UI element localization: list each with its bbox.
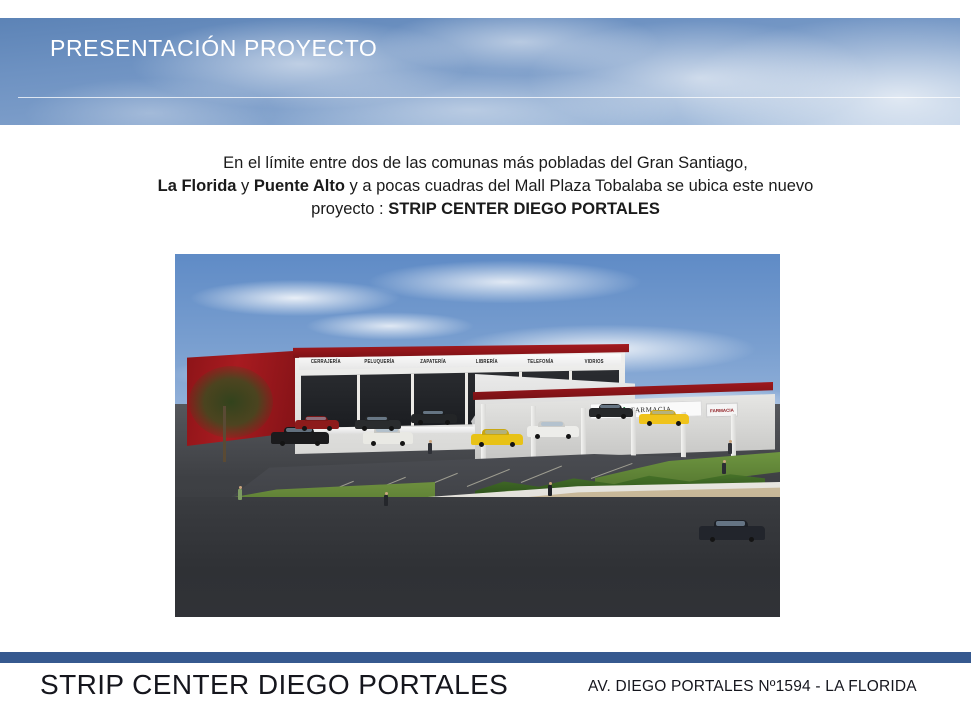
facade-column (631, 410, 636, 462)
footer-accent-bar (0, 652, 971, 663)
car-dark-suv (411, 414, 457, 423)
person-figure (237, 486, 243, 502)
intro-line-1-text: En el límite entre dos de las comunas má… (223, 154, 748, 172)
street-asphalt (175, 497, 780, 617)
car-yellow-convertible (639, 414, 689, 424)
comuna-la-florida: La Florida (158, 177, 237, 195)
car-dark-sedan (355, 420, 401, 429)
intro-line-3: proyecto : STRIP CENTER DIEGO PORTALES (0, 198, 971, 221)
person-figure (547, 482, 553, 498)
person-figure (727, 440, 733, 454)
car-red-sedan (295, 420, 339, 429)
page-title: PRESENTACIÓN PROYECTO (50, 35, 377, 62)
header-divider-line (18, 97, 960, 98)
intro-line-2-rest: y a pocas cuadras del Mall Plaza Tobalab… (345, 177, 813, 195)
facade-mullion (465, 370, 468, 428)
facade-column (581, 408, 586, 462)
car-street-sedan (699, 526, 765, 540)
project-render-image: CERRAJERÍA PELUQUERÍA ZAPATERÍA LIBRERÍA… (175, 254, 780, 617)
car-white-compact (363, 432, 413, 444)
car-white-suv (527, 426, 579, 437)
intro-line-2: La Florida y Puente Alto y a pocas cuadr… (0, 175, 971, 198)
facade-column (731, 414, 736, 462)
shop-sign-peluqueria: PELUQUERÍA (353, 359, 407, 364)
person-figure (721, 460, 727, 475)
tree-trunk (223, 406, 226, 462)
car-yellow-hatchback (471, 434, 523, 445)
car-dark-parked (589, 408, 633, 417)
footer-project-title: STRIP CENTER DIEGO PORTALES (40, 669, 508, 701)
shop-sign-vidrios: VIDRIOS (567, 359, 621, 364)
pharmacy-logo-label: FARMACIA (710, 407, 734, 413)
car-black-pickup (271, 432, 329, 444)
intro-conjunction: y (236, 177, 253, 195)
intro-line-1: En el límite entre dos de las comunas má… (0, 152, 971, 175)
shop-sign-telefonia: TELEFONÍA (514, 359, 568, 364)
parking-stall-line (521, 466, 562, 483)
person-figure (427, 440, 433, 454)
intro-paragraph: En el límite entre dos de las comunas má… (0, 152, 971, 221)
intro-line-3-prefix: proyecto : (311, 200, 388, 218)
comuna-puente-alto: Puente Alto (254, 177, 345, 195)
shop-sign-zapateria: ZAPATERÍA (406, 359, 460, 364)
shop-sign-libreria: LIBRERÍA (460, 359, 514, 364)
project-name: STRIP CENTER DIEGO PORTALES (388, 200, 660, 218)
person-figure (383, 492, 389, 508)
shop-sign-cerrajeria: CERRAJERÍA (299, 359, 353, 364)
footer-address: AV. DIEGO PORTALES Nº1594 - LA FLORIDA (588, 678, 917, 696)
tree-foliage (189, 366, 273, 438)
